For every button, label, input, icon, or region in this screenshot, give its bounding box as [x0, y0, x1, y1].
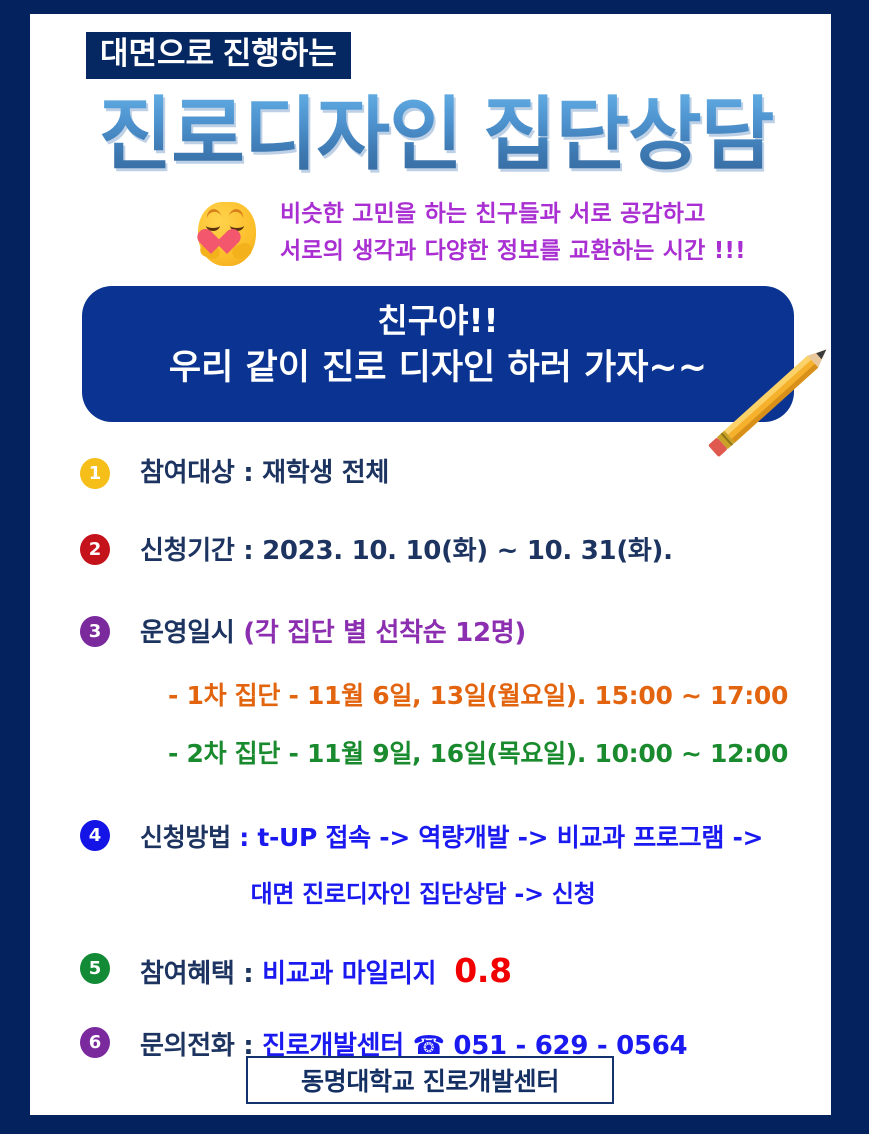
list-item-label-main: 참여혜택 :: [140, 959, 262, 989]
list-item-label-accent: (각 집단 별 선착순 12명): [243, 618, 526, 648]
list-subline: - 1차 집단 - 11월 6일, 13일(월요일). 15:00 ~ 17:0…: [168, 676, 831, 712]
tagline-text: 비슷한 고민을 하는 친구들과 서로 공감하고 서로의 생각과 다양한 정보를 …: [280, 196, 746, 271]
list-item-badge: 5: [80, 953, 110, 984]
info-list: 1 참여대상 : 재학생 전체 2 신청기간 : 2023. 10. 10(화)…: [48, 446, 831, 1067]
list-item-label: 신청방법 : t-UP 접속 -> 역량개발 -> 비교과 프로그램 ->: [140, 818, 831, 854]
list-subline: 대면 진로디자인 집단상담 -> 신청: [48, 874, 831, 909]
list-item-label-accent: : t-UP 접속 -> 역량개발 -> 비교과 프로그램 ->: [239, 823, 763, 852]
tagline-line-1: 비슷한 고민을 하는 친구들과 서로 공감하고: [280, 196, 746, 233]
list-item: 5 참여혜택 : 비교과 마일리지0.8: [48, 951, 831, 993]
list-item-badge: 4: [80, 820, 110, 851]
callout-line-2: 우리 같이 진로 디자인 하러 가자~~: [82, 346, 794, 392]
callout-banner: 친구야!! 우리 같이 진로 디자인 하러 가자~~: [82, 286, 794, 422]
list-subline: - 2차 집단 - 11월 9일, 16일(목요일). 10:00 ~ 12:0…: [168, 734, 831, 770]
smiling-face-with-hearts-emoji: [196, 202, 258, 268]
list-item: 3 운영일시 (각 집단 별 선착순 12명): [48, 612, 831, 654]
list-item-badge: 2: [80, 534, 110, 565]
list-item: 2 신청기간 : 2023. 10. 10(화) ~ 10. 31(화).: [48, 530, 831, 572]
list-item-badge: 1: [80, 458, 110, 489]
list-item-label-highlight: 0.8: [436, 951, 512, 990]
tagline-line-2: 서로의 생각과 다양한 정보를 교환하는 시간 !!!: [280, 233, 746, 270]
list-item-label-main: 문의전화 :: [140, 1031, 262, 1061]
list-item: 1 참여대상 : 재학생 전체: [48, 452, 831, 494]
page-title: 진로디자인 집단상담: [76, 90, 796, 180]
poster-root: 대면으로 진행하는 진로디자인 집단상담 비슷한 고민을 하는 친구들과 서로 …: [0, 0, 869, 1134]
list-item-label-main: 운영일시: [140, 618, 243, 648]
list-item-label: 참여혜택 : 비교과 마일리지0.8: [140, 951, 831, 990]
list-item-label-main: 신청방법: [140, 823, 239, 852]
footer-box: 동명대학교 진로개발센터: [246, 1056, 614, 1104]
list-item-label-accent: 비교과 마일리지: [262, 959, 436, 989]
tagline-row: 비슷한 고민을 하는 친구들과 서로 공감하고 서로의 생각과 다양한 정보를 …: [196, 196, 816, 271]
list-item-label: 운영일시 (각 집단 별 선착순 12명): [140, 612, 831, 649]
callout-line-1: 친구야!!: [82, 300, 794, 342]
kicker-label: 대면으로 진행하는: [86, 32, 351, 79]
list-item-label: 신청기간 : 2023. 10. 10(화) ~ 10. 31(화).: [140, 530, 831, 567]
list-item: 4 신청방법 : t-UP 접속 -> 역량개발 -> 비교과 프로그램 ->: [48, 818, 831, 860]
list-item-badge: 3: [80, 616, 110, 647]
footer-text: 동명대학교 진로개발센터: [301, 1062, 559, 1098]
poster-sheet: 대면으로 진행하는 진로디자인 집단상담 비슷한 고민을 하는 친구들과 서로 …: [30, 14, 831, 1115]
list-item-label: 참여대상 : 재학생 전체: [140, 452, 831, 489]
list-item-badge: 6: [80, 1027, 110, 1058]
